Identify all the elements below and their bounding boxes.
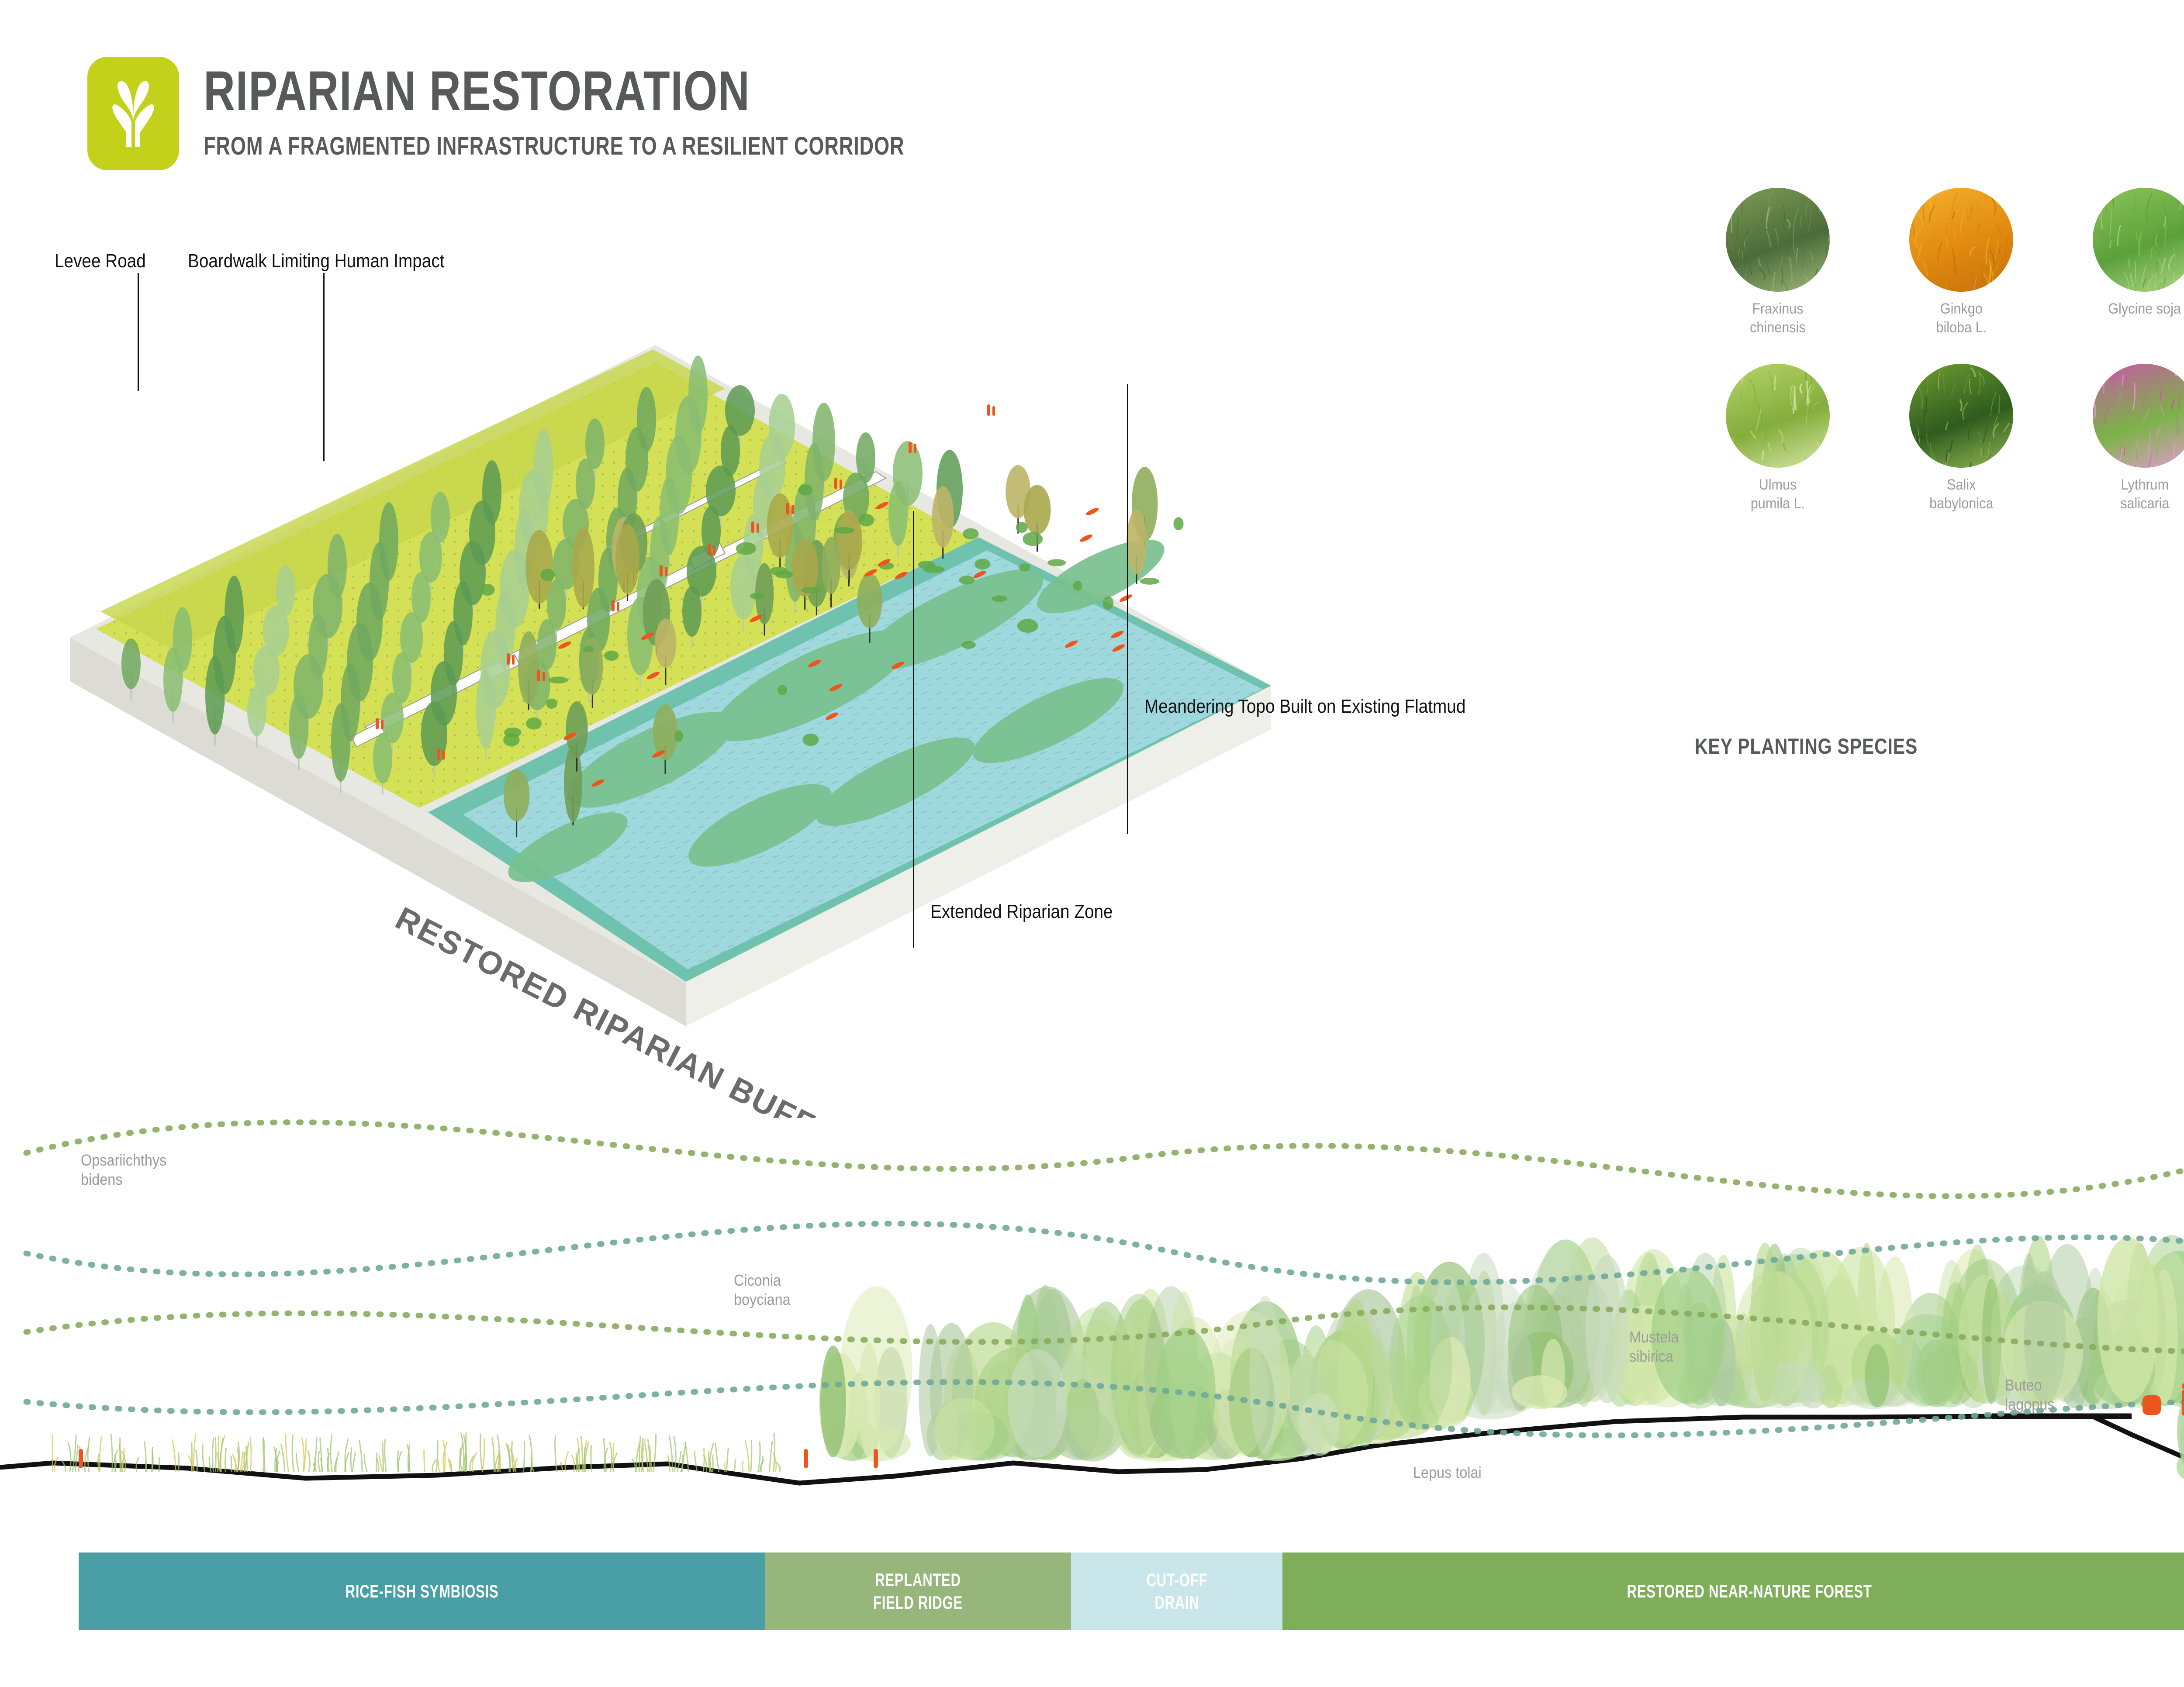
legend-segment-cut-off-drain[interactable]: CUT-OFF DRAIN — [1071, 1552, 1283, 1630]
axon-person — [786, 503, 789, 514]
page-title: RIPARIAN RESTORATION — [204, 63, 904, 120]
section-paddy-grass — [751, 1440, 752, 1472]
axon-marsh-clump — [584, 646, 594, 652]
axon-person — [708, 544, 711, 555]
axon-marsh-clump — [992, 595, 1007, 602]
section-paddy-grass — [331, 1435, 332, 1472]
section-paddy-grass — [281, 1444, 284, 1472]
section-paddy-grass — [483, 1439, 484, 1472]
axon-marsh-clump — [604, 651, 619, 661]
section-paddy-grass — [194, 1434, 196, 1472]
section-paddy-grass — [250, 1437, 251, 1472]
species-name: Lythrum salicaria — [2120, 476, 2169, 513]
axon-person — [914, 444, 916, 453]
axon-tree — [163, 647, 183, 712]
axon-person — [791, 505, 794, 514]
section-paddy-grass — [352, 1452, 356, 1472]
axon-fish — [1079, 533, 1093, 543]
ecological-flow-curve-0 — [26, 1122, 2184, 1196]
section-paddy-grass — [178, 1452, 179, 1472]
section-tree — [1062, 1308, 1130, 1456]
axon-wetland-tree — [655, 619, 676, 668]
section-paddy-grass — [68, 1442, 71, 1472]
axon-person — [834, 478, 837, 489]
species-name: Fraxinus chinensis — [1750, 300, 1806, 337]
section-paddy-grass — [292, 1435, 294, 1472]
section-paddy-grass — [359, 1440, 362, 1472]
section-tree — [1750, 1243, 1780, 1403]
species-photo — [1909, 188, 2013, 292]
axon-marsh-clump — [835, 527, 854, 534]
section-paddy-grass — [703, 1448, 704, 1472]
axon-marsh-clump — [1017, 619, 1038, 632]
section-paddy-grass — [677, 1451, 681, 1472]
key-planting-species-panel: Fraxinus chinensisGinkgo biloba L.Glycin… — [1686, 188, 2184, 513]
leader-extended-riparian — [913, 511, 914, 948]
section-paddy-grass — [438, 1460, 440, 1472]
axon-person — [992, 406, 995, 416]
leader-levee-road — [138, 273, 139, 391]
axon-tree — [121, 638, 141, 689]
axon-marsh-clump — [1103, 597, 1114, 610]
section-tree — [934, 1398, 995, 1460]
section-tree — [1287, 1340, 1368, 1452]
legend-segment-label: RESTORED NEAR-NATURE FOREST — [1627, 1580, 1872, 1603]
axon-person — [713, 546, 715, 555]
leader-boardwalk — [323, 273, 325, 461]
axon-person — [543, 672, 545, 681]
section-paddy-grass — [424, 1450, 425, 1472]
bench-icon — [2143, 1395, 2161, 1415]
species-label-buteo-lagopus: Buteo lagopus — [2005, 1376, 2054, 1414]
section-tree — [820, 1345, 846, 1457]
section-paddy-grass — [645, 1444, 648, 1472]
section-paddy-grass — [318, 1451, 320, 1472]
legend-segment-rice-fish-symbiosis[interactable]: RICE-FISH SYMBIOSIS — [79, 1552, 765, 1630]
section-paddy-grass — [472, 1452, 477, 1472]
species-label-mustela-sibirica: Mustela sibirica — [1629, 1328, 1679, 1366]
person-icon — [2182, 1390, 2184, 1416]
axon-marsh-clump — [546, 699, 557, 709]
species-row-1: Fraxinus chinensisGinkgo biloba L.Glycin… — [1686, 188, 2184, 337]
axon-tree — [682, 586, 702, 637]
callout-levee-road: Levee Road — [55, 249, 146, 273]
axon-wetland-tree — [932, 486, 954, 548]
zone-legend-bar: RICE-FISH SYMBIOSISREPLANTED FIELD RIDGE… — [79, 1552, 2184, 1630]
axon-tree — [205, 656, 225, 735]
axon-person — [757, 523, 759, 533]
species-panel-heading: KEY PLANTING SPECIES — [1695, 734, 1918, 759]
species-label-ciconia-boyciana: Ciconia boyciana — [734, 1271, 791, 1309]
leader-meandering-topo — [1127, 384, 1128, 834]
axon-person — [840, 480, 842, 489]
axon-person — [617, 602, 619, 611]
section-paddy-grass — [225, 1448, 226, 1472]
axon-marsh-clump — [526, 718, 542, 730]
section-paddy-grass — [220, 1438, 223, 1472]
axon-marsh-clump — [1174, 517, 1184, 530]
cross-section-svg — [0, 1026, 2184, 1550]
species-label-opsariichthys-bidens: Opsariichthys bidens — [81, 1151, 166, 1189]
species-name: Ulmus pumila L. — [1751, 476, 1805, 513]
legend-segment-restored-near-nature-forest[interactable]: RESTORED NEAR-NATURE FOREST — [1282, 1552, 2184, 1630]
axon-marsh-clump — [802, 734, 819, 746]
section-tree — [1865, 1344, 1889, 1408]
legend-segment-label: RICE-FISH SYMBIOSIS — [345, 1580, 498, 1603]
section-paddy-grass — [724, 1463, 725, 1472]
sprout-in-hands-icon — [107, 76, 159, 151]
species-cell: Ginkgo biloba L. — [1870, 188, 2053, 337]
legend-segment-label: CUT-OFF DRAIN — [1146, 1569, 1207, 1615]
axon-marsh-clump — [963, 528, 978, 540]
section-tree — [840, 1286, 912, 1454]
axon-wetland-tree — [582, 638, 603, 695]
section-paddy-grass — [377, 1459, 379, 1472]
section-paddy-grass — [742, 1461, 743, 1472]
section-paddy-grass — [385, 1439, 386, 1472]
section-paddy-grass — [465, 1452, 466, 1472]
section-paddy-grass — [383, 1442, 384, 1472]
axon-person — [909, 442, 912, 453]
axon-tree — [476, 670, 495, 749]
axon-fish — [1085, 507, 1099, 517]
section-paddy-grass — [777, 1463, 780, 1472]
axon-marsh-clump — [736, 542, 756, 555]
axon-person — [437, 749, 440, 760]
callout-meandering-topo: Meandering Topo Built on Existing Flatmu… — [1144, 694, 1465, 719]
section-paddy-grass — [320, 1438, 322, 1472]
section-paddy-grass — [212, 1438, 214, 1472]
section-tree — [1249, 1296, 1281, 1455]
cross-section-scene: Opsariichthys bidensCiconia boycianaLepu… — [0, 1026, 2184, 1550]
axon-marsh-clump — [1016, 522, 1028, 533]
person-icon — [79, 1449, 83, 1468]
axon-person — [507, 653, 510, 665]
section-paddy-grass — [726, 1448, 728, 1472]
axon-wetland-tree — [615, 524, 639, 594]
axon-person — [612, 600, 615, 611]
page-header: RIPARIAN RESTORATION FROM A FRAGMENTED I… — [87, 57, 1102, 170]
axon-marsh-clump — [801, 587, 822, 593]
logo-badge — [87, 57, 179, 170]
section-tree — [1008, 1349, 1067, 1457]
section-paddy-grass — [578, 1448, 579, 1472]
axon-tree — [730, 555, 757, 619]
section-paddy-grass — [296, 1453, 299, 1472]
axon-marsh-clump — [1073, 581, 1082, 590]
section-paddy-grass — [591, 1445, 591, 1472]
section-paddy-grass — [231, 1456, 232, 1472]
axon-marsh-clump — [798, 485, 813, 496]
axon-wetland-tree — [518, 631, 539, 704]
species-name: Glycine soja — [2108, 300, 2181, 318]
axon-marsh-clump — [750, 593, 765, 600]
axon-marsh-clump — [1023, 532, 1043, 546]
axon-fish — [1119, 593, 1133, 603]
species-cell: Lythrum salicaria — [2053, 364, 2184, 513]
axon-tree — [888, 481, 908, 546]
species-label-lepus-tolai: Lepus tolai — [1413, 1463, 1482, 1482]
axon-marsh-clump — [674, 731, 683, 742]
species-photo — [2093, 188, 2184, 292]
section-tree — [1915, 1340, 1957, 1407]
person-icon — [804, 1449, 808, 1468]
species-name: Salix babylonica — [1929, 476, 1993, 513]
section-paddy-grass — [523, 1441, 524, 1472]
axon-marsh-clump — [1019, 563, 1031, 571]
section-paddy-grass — [492, 1438, 494, 1472]
axon-tree — [289, 694, 308, 759]
axon-wetland-tree — [767, 493, 793, 558]
axon-marsh-clump — [503, 733, 519, 746]
section-paddy-grass — [286, 1434, 289, 1472]
axon-marsh-clump — [975, 559, 990, 569]
section-paddy-grass — [745, 1440, 749, 1472]
axon-person — [660, 565, 663, 576]
species-photo — [1726, 364, 1830, 468]
axonometric-diagram: RESTORED RIPARIAN BUFFER Levee Road Boar… — [44, 245, 1704, 1118]
section-paddy-grass — [436, 1440, 438, 1472]
section-paddy-grass — [480, 1433, 482, 1472]
axon-marsh-clump — [961, 641, 976, 649]
legend-segment-label: REPLANTED FIELD RIDGE — [873, 1569, 963, 1615]
section-paddy-grass — [377, 1452, 377, 1472]
axon-marsh-clump — [480, 584, 495, 596]
axon-person — [665, 567, 667, 576]
axon-tree — [373, 733, 392, 783]
callout-boardwalk: Boardwalk Limiting Human Impact — [188, 249, 444, 273]
axon-marsh-clump — [959, 576, 975, 584]
axon-wetland-tree — [857, 573, 882, 628]
species-cell: Ulmus pumila L. — [1686, 364, 1870, 513]
axon-person — [442, 750, 445, 760]
species-photo — [1726, 188, 1830, 292]
axon-marsh-clump — [541, 569, 555, 581]
axon-tree — [331, 703, 350, 782]
axon-marsh-clump — [770, 567, 788, 576]
legend-segment-replanted-field-ridge[interactable]: REPLANTED FIELD RIDGE — [765, 1552, 1071, 1630]
axon-marsh-clump — [1047, 559, 1066, 566]
title-block: RIPARIAN RESTORATION FROM A FRAGMENTED I… — [204, 57, 1102, 161]
axon-wetland-tree — [653, 704, 677, 760]
section-paddy-grass — [232, 1454, 236, 1472]
person-icon — [874, 1449, 878, 1468]
species-row-2: Ulmus pumila L.Salix babylonicaLythrum s… — [1686, 364, 2184, 513]
axon-person — [751, 521, 754, 533]
section-tree — [1512, 1375, 1567, 1409]
section-paddy-grass — [773, 1433, 774, 1472]
section-paddy-grass — [770, 1441, 772, 1472]
species-photo — [2093, 364, 2184, 468]
axon-person — [376, 718, 379, 729]
section-paddy-grass — [761, 1459, 764, 1472]
axon-tree — [247, 686, 266, 736]
callout-extended-riparian-zone: Extended Riparian Zone — [930, 900, 1113, 924]
axon-marsh-clump — [918, 561, 935, 569]
species-name: Ginkgo biloba L. — [1936, 300, 1987, 337]
axon-wetland-tree — [572, 527, 594, 607]
section-tree — [2098, 1237, 2159, 1402]
axonometric-svg: RESTORED RIPARIAN BUFFER — [44, 245, 1704, 1118]
species-photo — [1909, 364, 2013, 468]
axon-marsh-clump — [1140, 578, 1159, 585]
section-paddy-grass — [336, 1451, 339, 1472]
section-paddy-grass — [308, 1451, 310, 1472]
page-subtitle: FROM A FRAGMENTED INFRASTRUCTURE TO A RE… — [204, 131, 904, 161]
axon-marsh-clump — [859, 514, 874, 527]
axon-wetland-tree — [525, 530, 553, 604]
section-paddy-grass — [364, 1454, 367, 1472]
section-paddy-grass — [159, 1457, 159, 1472]
section-tree — [1389, 1295, 1452, 1430]
section-paddy-grass — [758, 1442, 760, 1472]
axon-wetland-tree — [1127, 510, 1147, 574]
axon-wetland-tree — [822, 537, 840, 594]
section-paddy-grass — [351, 1447, 352, 1472]
section-paddy-grass — [379, 1455, 383, 1472]
axon-marsh-clump — [549, 676, 568, 683]
axon-person — [537, 670, 540, 681]
axon-person — [512, 655, 515, 665]
section-paddy-grass — [715, 1443, 719, 1472]
axon-marsh-clump — [778, 685, 787, 695]
axon-wetland-tree — [566, 701, 587, 758]
section-paddy-grass — [734, 1459, 735, 1472]
axon-person — [381, 720, 384, 729]
species-cell: Fraxinus chinensis — [1686, 188, 1870, 337]
species-cell: Salix babylonica — [1870, 364, 2053, 513]
species-cell: Glycine soja — [2053, 188, 2184, 337]
axon-person — [987, 404, 990, 416]
axon-wetland-tree — [504, 769, 529, 821]
axon-wetland-tree — [1023, 485, 1051, 535]
section-paddy-grass — [215, 1437, 216, 1472]
